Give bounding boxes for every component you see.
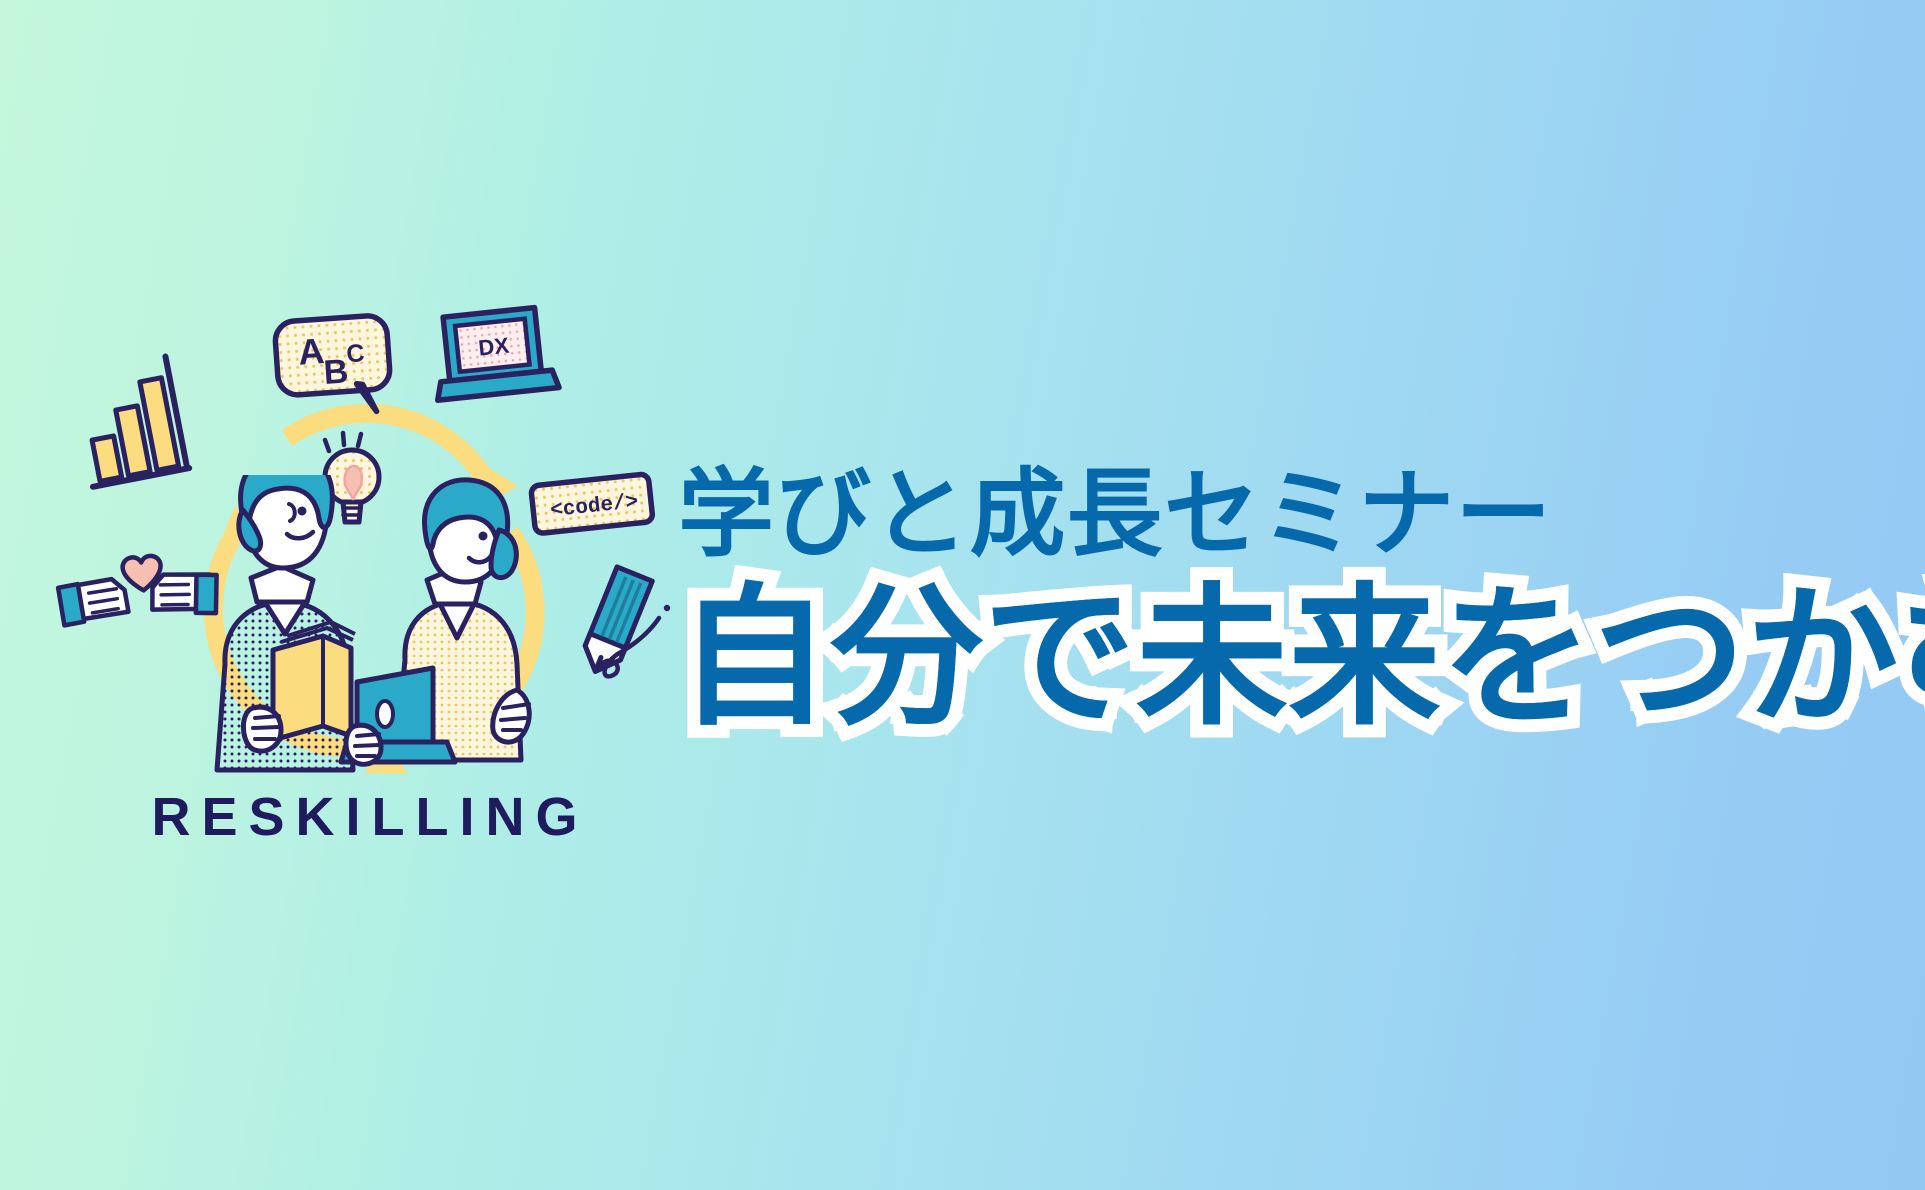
code-tag-icon: <code/> xyxy=(531,474,653,534)
seminar-banner: A B C DX <code/> xyxy=(0,0,1925,1190)
abc-letter-b: B xyxy=(322,352,349,392)
reskilling-wordmark: RESKILLING xyxy=(151,787,588,847)
reskilling-illustration: A B C DX <code/> xyxy=(55,290,685,870)
seminar-subtitle: 学びと成長セミナー xyxy=(678,466,1908,562)
bar-chart-icon xyxy=(71,356,189,487)
abc-speech-bubble-icon: A B C xyxy=(274,315,392,419)
seminar-headline-wrap: 自分で未来をつかむ 自分で未来をつかむ xyxy=(678,576,1908,746)
person-male xyxy=(217,452,355,770)
dx-label: DX xyxy=(477,333,510,361)
abc-letter-a: A xyxy=(297,330,326,373)
headline-group: 学びと成長セミナー 自分で未来をつかむ 自分で未来をつかむ xyxy=(678,466,1908,746)
people-group xyxy=(217,452,529,770)
heart-hands-icon xyxy=(56,550,220,626)
pencil-icon xyxy=(578,567,670,679)
seminar-headline: 自分で未来をつかむ xyxy=(678,576,1925,740)
dx-laptop-icon: DX xyxy=(429,306,559,400)
abc-letter-c: C xyxy=(346,339,366,368)
